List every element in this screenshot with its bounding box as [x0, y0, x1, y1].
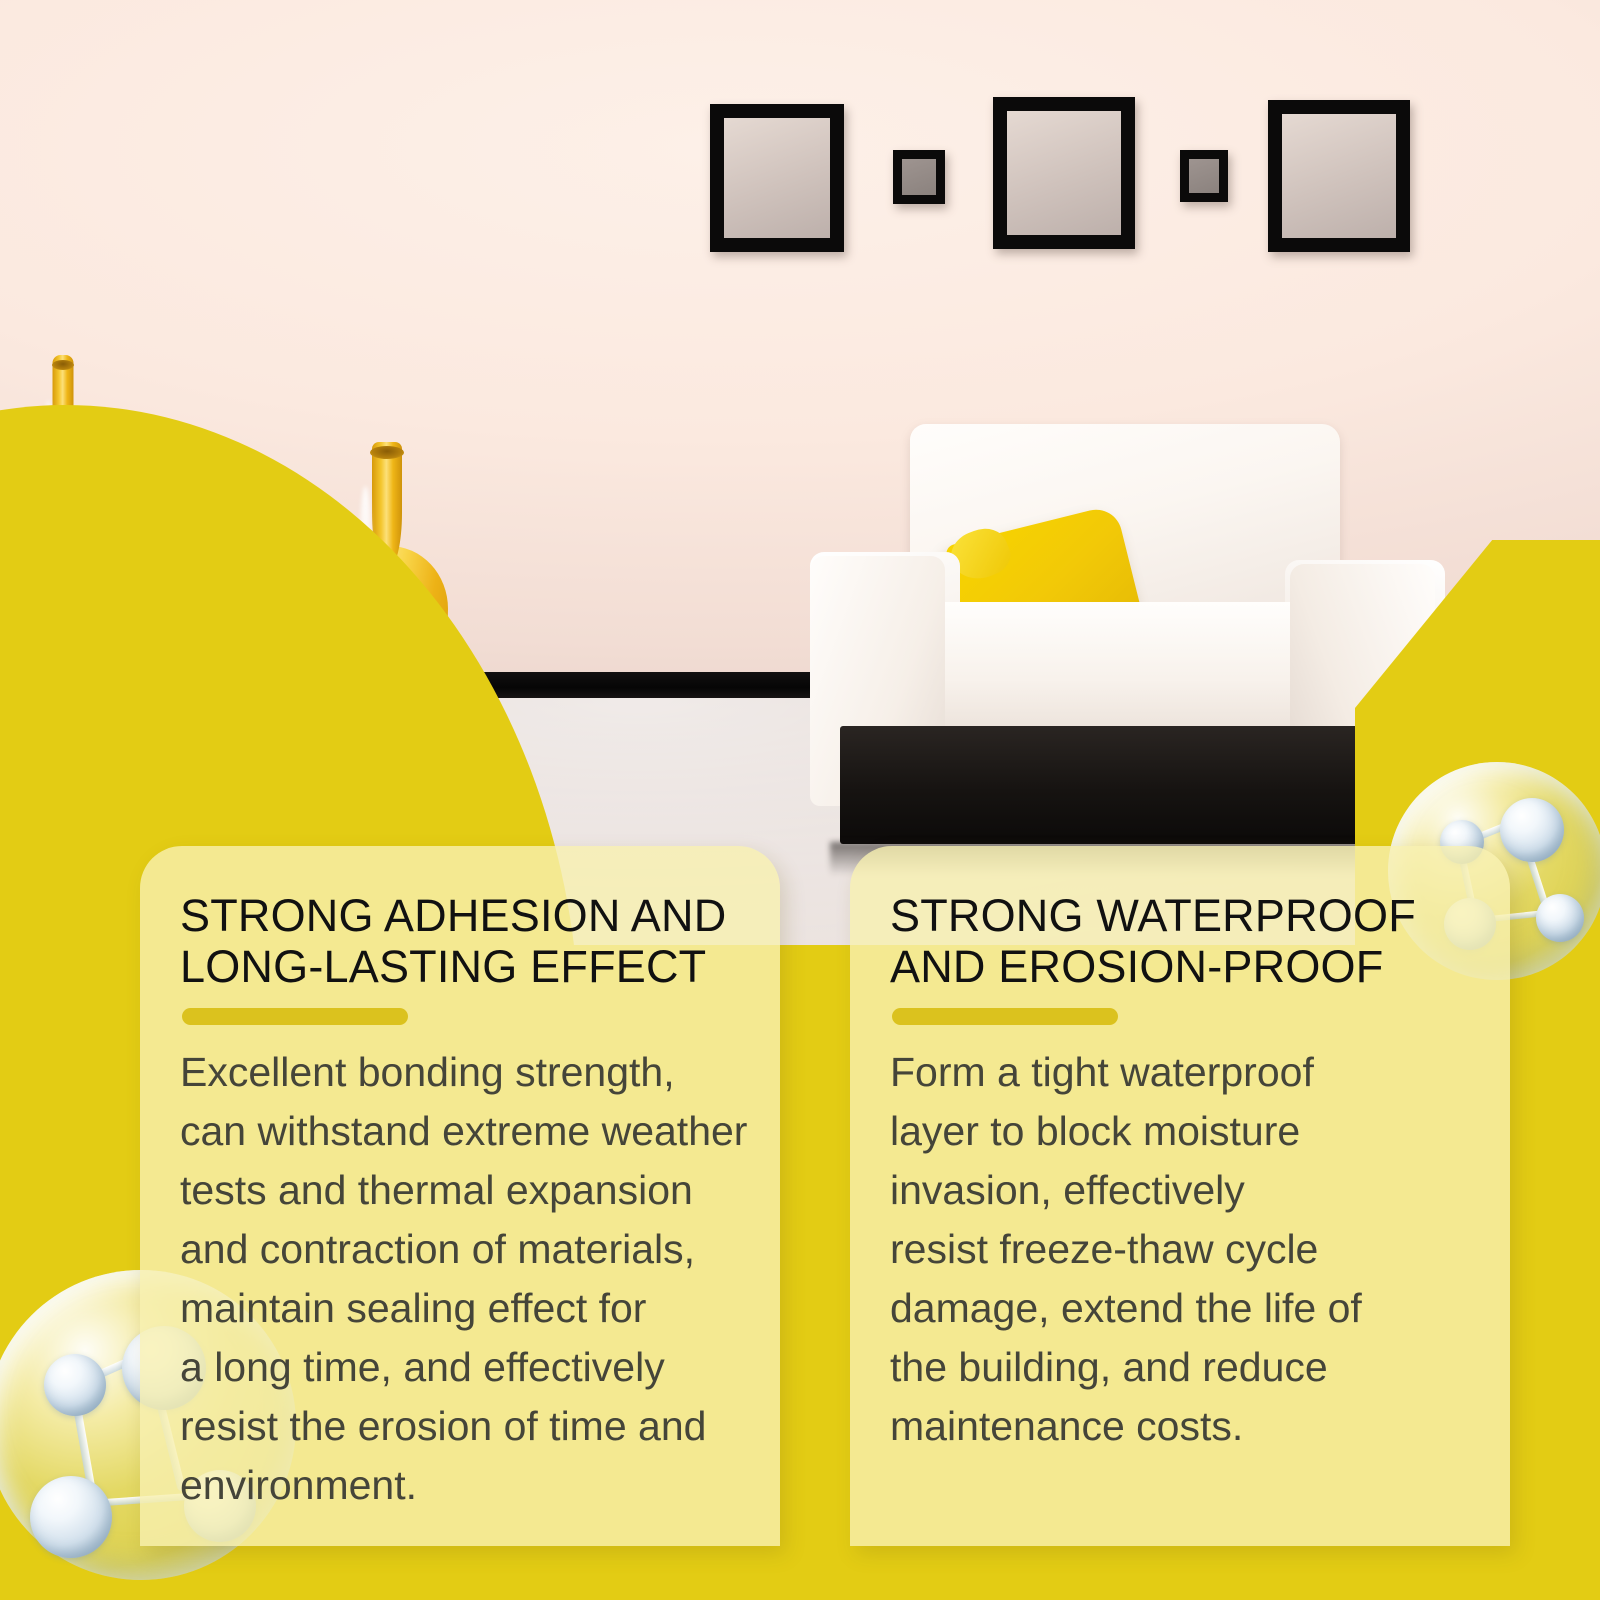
molecule-atom — [44, 1354, 106, 1416]
molecule-atom — [1536, 894, 1584, 942]
armchair-black-base — [840, 726, 1365, 844]
card-body-text: Form a tight waterproof layer to block m… — [890, 1043, 1510, 1456]
frame-small-1-icon — [893, 150, 945, 204]
molecule-atom — [30, 1476, 112, 1558]
frame-large-3-icon — [1268, 100, 1410, 252]
title-accent-bar — [182, 1008, 408, 1025]
feature-card-adhesion[interactable]: STRONG ADHESION AND LONG-LASTING EFFECT … — [140, 846, 780, 1546]
infographic-canvas: STRONG ADHESION AND LONG-LASTING EFFECT … — [0, 0, 1600, 1600]
frame-large-1-icon — [710, 104, 844, 252]
title-accent-bar — [892, 1008, 1118, 1025]
frame-small-2-icon — [1180, 150, 1228, 202]
frame-large-2-icon — [993, 97, 1135, 249]
card-body-text: Excellent bonding strength, can withstan… — [180, 1043, 780, 1515]
card-title: STRONG WATERPROOF AND EROSION-PROOF — [890, 890, 1416, 993]
feature-card-waterproof[interactable]: STRONG WATERPROOF AND EROSION-PROOF Form… — [850, 846, 1510, 1546]
molecule-atom — [1500, 798, 1564, 862]
card-title: STRONG ADHESION AND LONG-LASTING EFFECT — [180, 890, 726, 993]
